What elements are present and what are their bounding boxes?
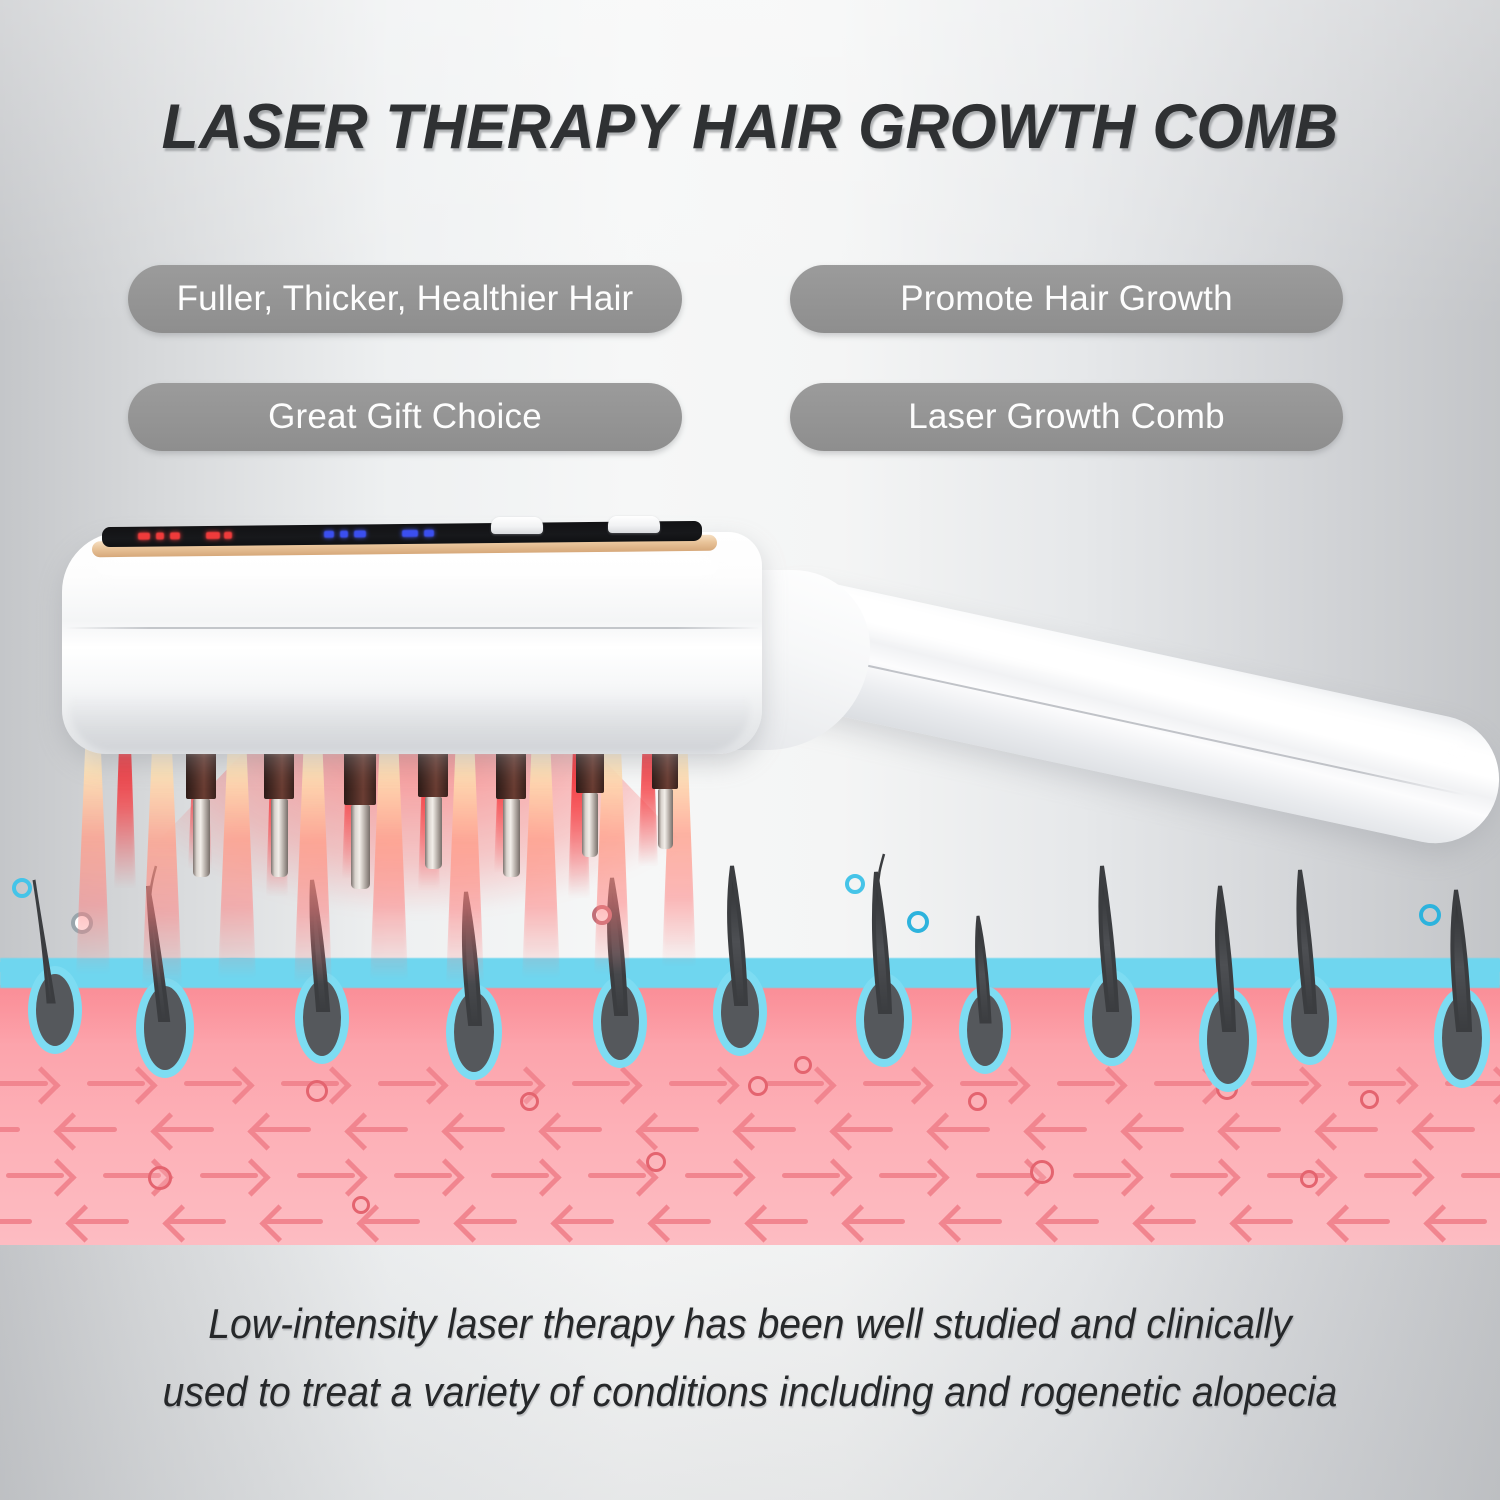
blood-cell [748, 1076, 768, 1096]
caption-line-1: Low-intensity laser therapy has been wel… [53, 1290, 1448, 1358]
head-highlight [92, 552, 722, 588]
head-seam [66, 627, 760, 629]
feature-pill-fuller-thicker-healthier-hair: Fuller, Thicker, Healthier Hair [128, 265, 682, 333]
arrow-row-left-1 [0, 1111, 1500, 1145]
arrow-row-right-2 [0, 1157, 1500, 1191]
blood-cell [148, 1166, 172, 1190]
epidermis-layer [0, 958, 1500, 988]
blood-cell [1300, 1170, 1318, 1188]
footer-caption: Low-intensity laser therapy has been wel… [53, 1290, 1448, 1426]
blood-cell [1216, 1078, 1238, 1100]
blood-cell [306, 1080, 328, 1102]
skin-cross-section-illustration [0, 880, 1500, 1245]
laser-comb-device [0, 500, 1500, 920]
blood-cell [794, 1056, 812, 1074]
blood-cell [520, 1092, 539, 1111]
arrow-row-left-2 [0, 1203, 1500, 1237]
feature-pill-laser-growth-comb: Laser Growth Comb [790, 383, 1343, 451]
head-shadow [70, 696, 750, 752]
caption-line-2: used to treat a variety of conditions in… [53, 1358, 1448, 1426]
blood-cell [968, 1092, 987, 1111]
page-title: LASER THERAPY HAIR GROWTH COMB [30, 95, 1470, 161]
handle-highlight [789, 597, 1468, 762]
blood-cell [646, 1152, 666, 1172]
product-marketing-image: LASER THERAPY HAIR GROWTH COMB Fuller, T… [0, 0, 1500, 1500]
dermis-glow [0, 985, 1500, 1045]
feature-pill-promote-hair-growth: Promote Hair Growth [790, 265, 1343, 333]
blood-cell [1030, 1160, 1054, 1184]
blood-cell [352, 1196, 370, 1214]
power-button[interactable] [491, 517, 543, 534]
feature-pill-great-gift-choice: Great Gift Choice [128, 383, 682, 451]
mode-button[interactable] [608, 516, 660, 533]
blood-cell [1360, 1090, 1379, 1109]
